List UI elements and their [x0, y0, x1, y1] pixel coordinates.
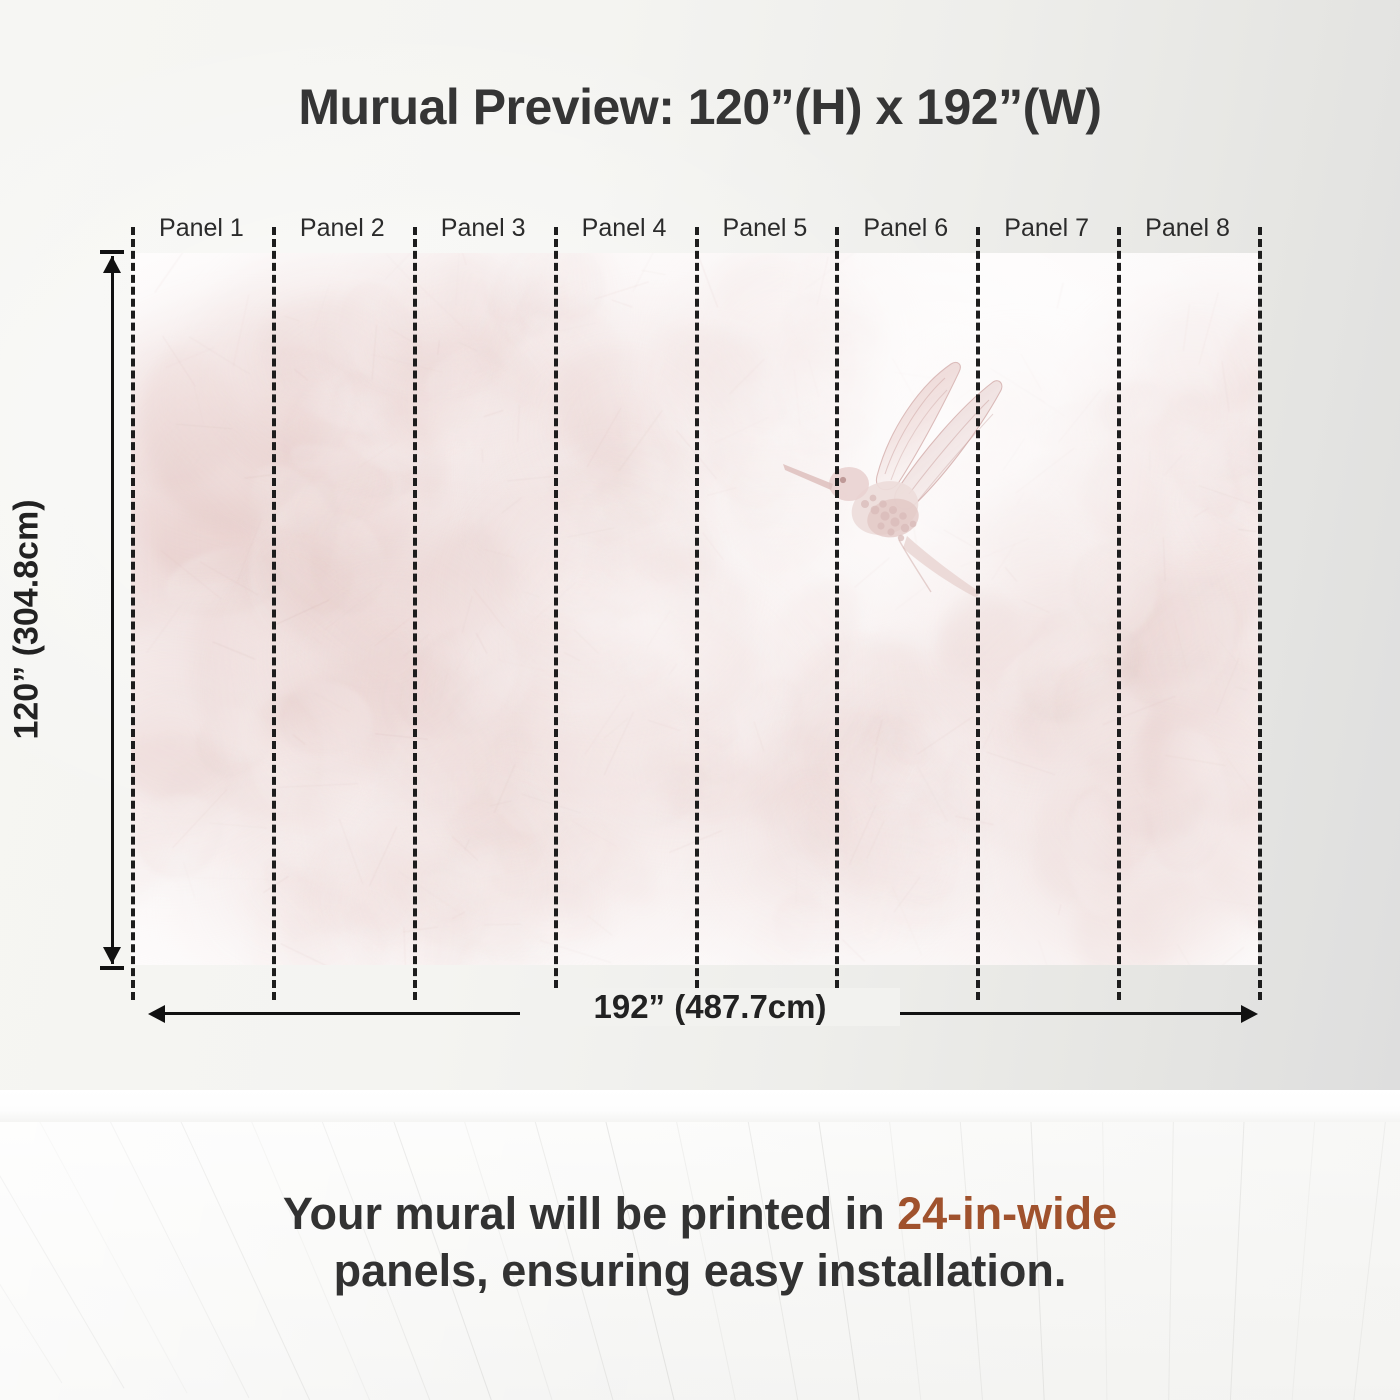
width-arrowhead-left — [148, 1005, 165, 1023]
height-arrowhead-up — [103, 256, 121, 273]
caption-line-2: panels, ensuring easy installation. — [0, 1243, 1400, 1300]
page-title: Murual Preview: 120”(H) x 192”(W) — [0, 78, 1400, 136]
mural-floral-art — [131, 253, 1258, 965]
width-arrowhead-right — [1241, 1005, 1258, 1023]
hummingbird-icon — [781, 358, 1011, 618]
caption-prefix: Your mural will be printed in — [283, 1188, 897, 1239]
baseboard — [0, 1090, 1400, 1124]
height-dimension-arrow — [84, 250, 144, 970]
mural-preview-screenshot: Murual Preview: 120”(H) x 192”(W) — [0, 0, 1400, 1400]
height-arrow-shaft — [111, 256, 114, 964]
caption-accent: 24-in-wide — [897, 1188, 1117, 1239]
height-tick-bottom — [100, 966, 124, 970]
width-dimension-label: 192” (487.7cm) — [520, 988, 900, 1026]
caption-line-1: Your mural will be printed in 24-in-wide — [0, 1186, 1400, 1243]
height-tick-top — [100, 250, 124, 254]
mural-artwork — [131, 253, 1258, 965]
height-arrowhead-down — [103, 947, 121, 964]
caption-text: Your mural will be printed in 24-in-wide… — [0, 1186, 1400, 1299]
height-dimension-label: 120” (304.8cm) — [8, 390, 47, 850]
